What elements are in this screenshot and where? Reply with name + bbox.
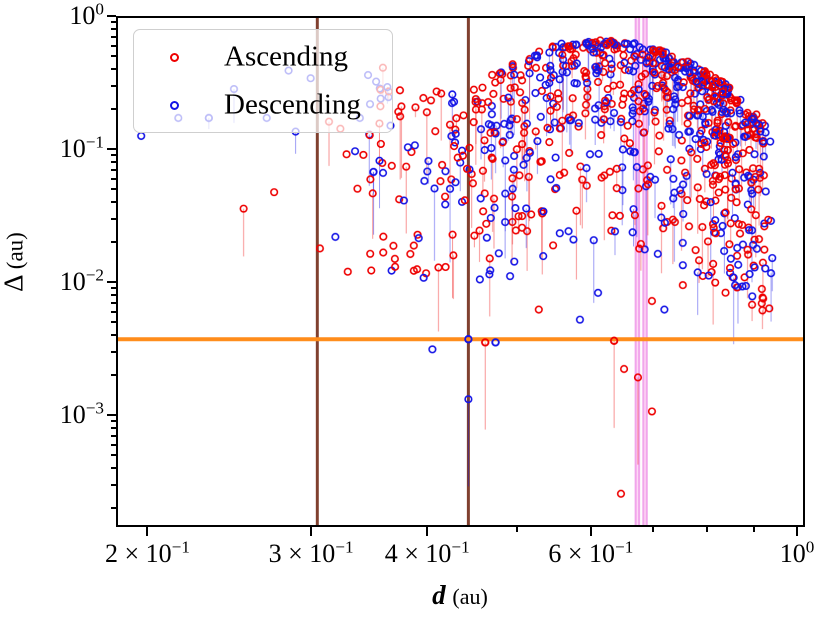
legend-entry-descending: Descending bbox=[134, 82, 392, 128]
legend-label-descending: Descending bbox=[224, 89, 361, 122]
chart-figure: Δ (au) d (au) 2 × 10−13 × 10−14 × 10−16 … bbox=[0, 0, 830, 633]
x-axis-units: (au) bbox=[452, 584, 487, 609]
axis-tick bbox=[796, 527, 798, 536]
axis-tick bbox=[107, 414, 116, 416]
legend-marker-descending bbox=[170, 101, 179, 110]
y-tick-label: 100 bbox=[69, 3, 104, 29]
axis-tick bbox=[590, 527, 592, 536]
axis-tick bbox=[146, 527, 148, 536]
x-tick-label: 4 × 10−1 bbox=[385, 541, 470, 567]
x-tick-label: 6 × 10−1 bbox=[548, 541, 633, 567]
x-axis-title: d (au) bbox=[432, 580, 488, 611]
axis-tick bbox=[753, 527, 755, 532]
legend-label-ascending: Ascending bbox=[224, 41, 348, 74]
y-tick-label: 10−2 bbox=[60, 269, 104, 295]
axis-tick bbox=[107, 148, 116, 150]
y-axis-variable: Δ bbox=[0, 276, 29, 292]
axis-tick bbox=[706, 527, 708, 532]
y-tick-label: 10−1 bbox=[60, 136, 104, 162]
plot-area: Ascending Descending bbox=[116, 16, 805, 527]
x-tick-label: 3 × 10−1 bbox=[269, 541, 354, 567]
legend-entry-ascending: Ascending bbox=[134, 34, 392, 80]
y-axis-units: (au) bbox=[3, 232, 28, 269]
axis-tick bbox=[516, 527, 518, 532]
axis-tick bbox=[310, 527, 312, 536]
axis-tick bbox=[107, 15, 116, 17]
axis-tick bbox=[107, 281, 116, 283]
x-tick-label: 100 bbox=[780, 541, 815, 567]
y-axis-title: Δ (au) bbox=[0, 232, 30, 292]
y-tick-label: 10−3 bbox=[60, 402, 104, 428]
axis-tick bbox=[652, 527, 654, 532]
x-tick-label: 2 × 10−1 bbox=[105, 541, 190, 567]
axis-tick bbox=[426, 527, 428, 536]
legend-box: Ascending Descending bbox=[133, 29, 393, 133]
legend-marker-ascending bbox=[170, 53, 179, 62]
x-axis-variable: d bbox=[432, 580, 446, 610]
